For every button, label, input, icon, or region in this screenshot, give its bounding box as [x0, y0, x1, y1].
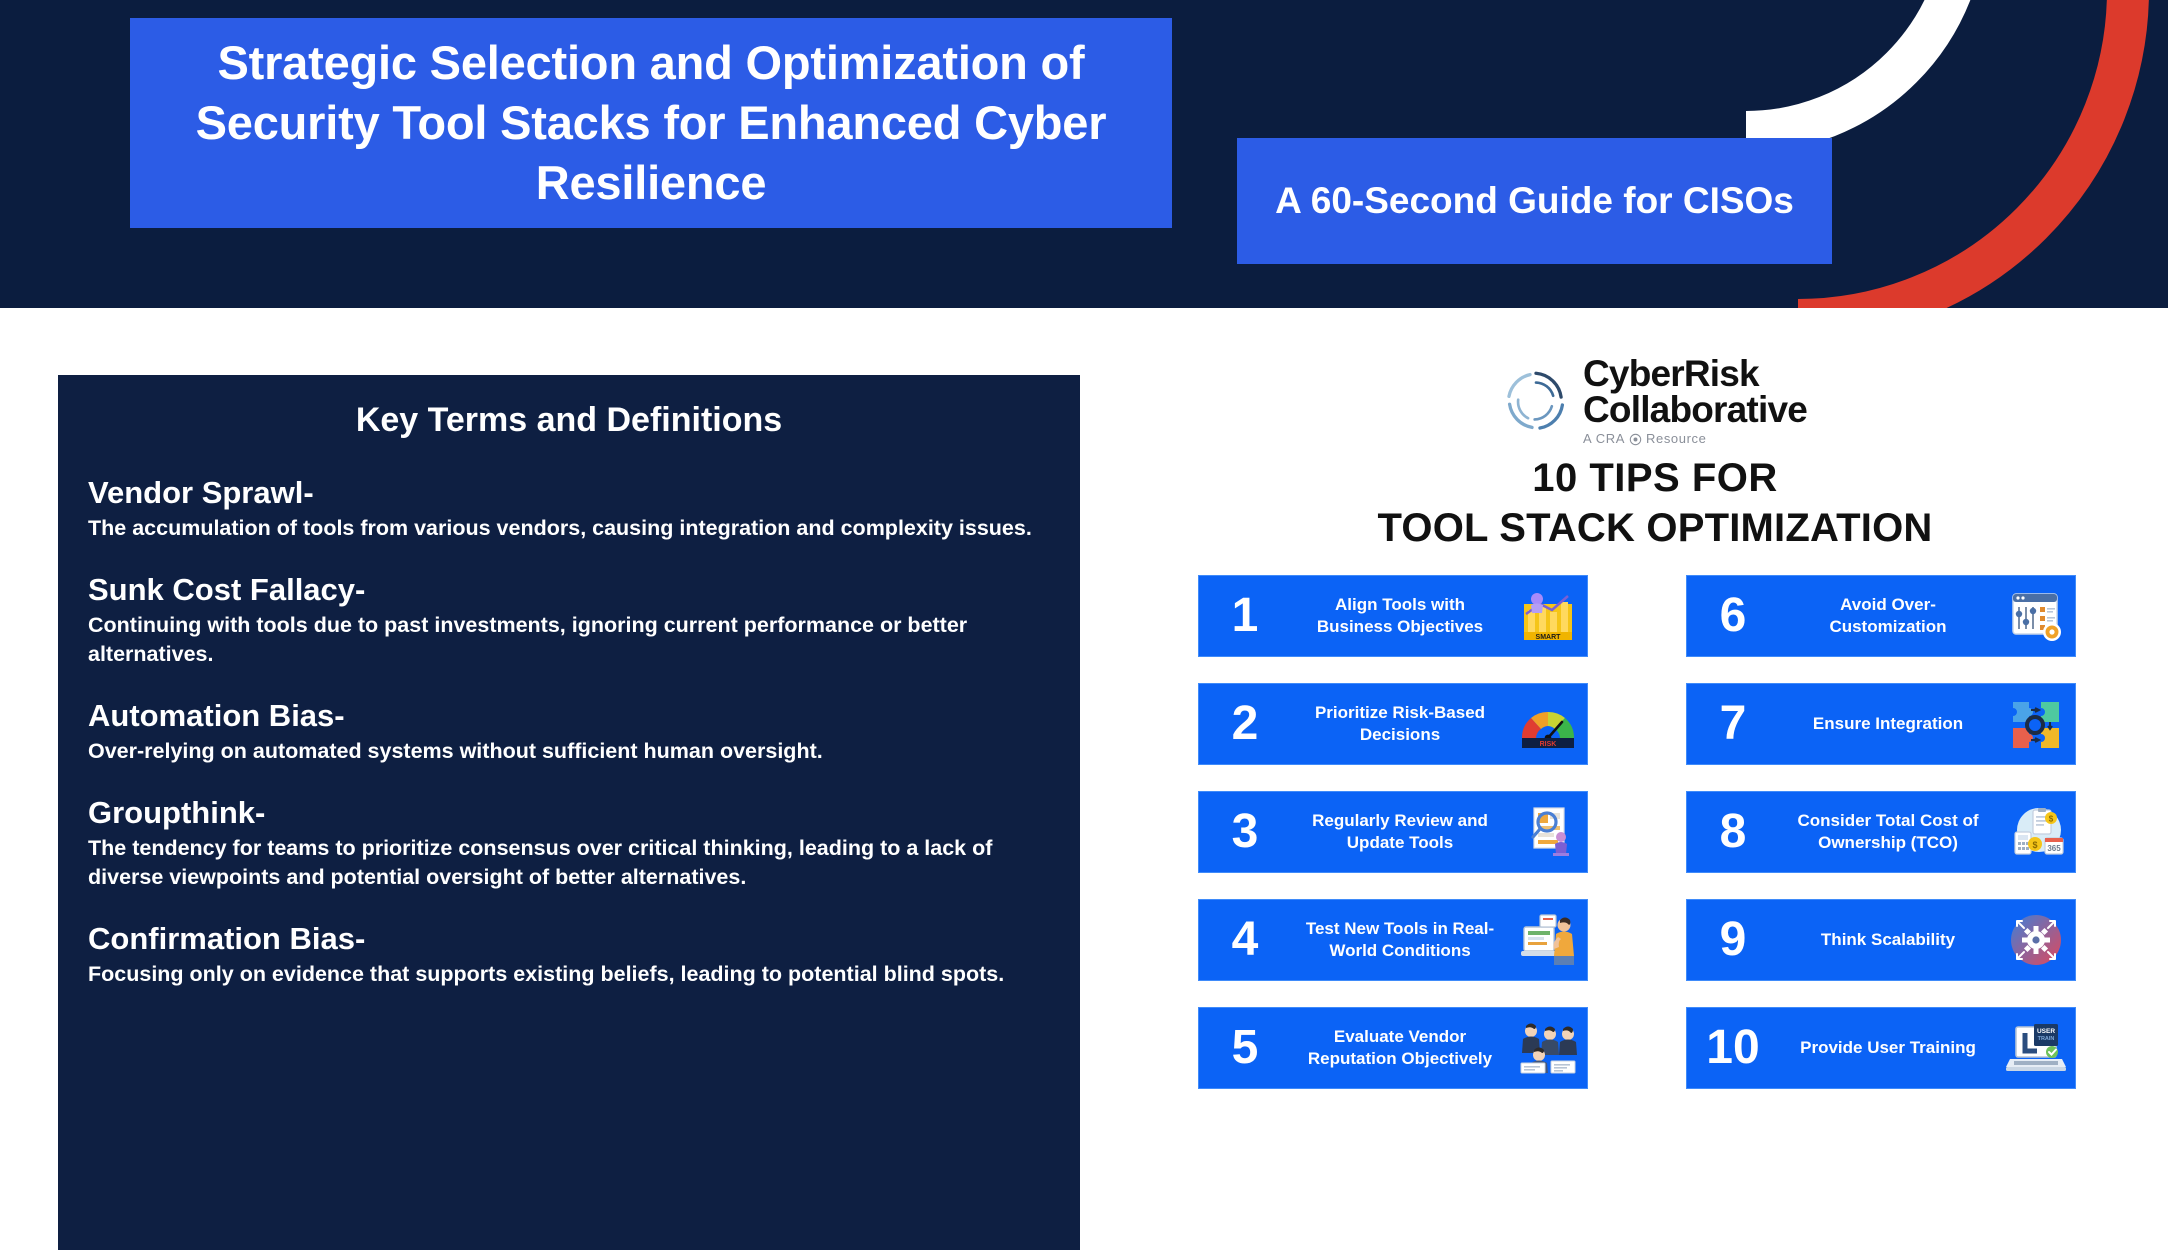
- tip-card[interactable]: 4 Test New Tools in Real-World Condition…: [1198, 899, 1588, 981]
- tip-number: 2: [1199, 700, 1291, 748]
- term-entry: Groupthink- The tendency for teams to pr…: [88, 796, 1050, 892]
- tip-card[interactable]: 10 Provide User Training USER TRAIN: [1686, 1007, 2076, 1089]
- tip-label: Consider Total Cost of Ownership (TCO): [1779, 810, 1997, 854]
- logo-line-2: Collaborative: [1583, 392, 1807, 428]
- svg-text:$: $: [2049, 815, 2054, 824]
- tip-number: 8: [1687, 808, 1779, 856]
- svg-text:RISK: RISK: [1540, 741, 1557, 748]
- tip-card[interactable]: 6 Avoid Over-Customization: [1686, 575, 2076, 657]
- cyberrisk-swirl-logo-icon: [1503, 368, 1569, 434]
- brand-logo: CyberRisk Collaborative A CRA Resource: [1180, 355, 2130, 447]
- term-name: Confirmation Bias-: [88, 922, 1050, 957]
- tip-label: Think Scalability: [1779, 929, 1997, 951]
- review-document-icon: [1509, 796, 1587, 868]
- tip-number: 3: [1199, 808, 1291, 856]
- tips-grid: 1 Align Tools with Business Objectives S…: [1180, 575, 2130, 1089]
- settings-sliders-icon: [1997, 580, 2075, 652]
- term-name: Sunk Cost Fallacy-: [88, 573, 1050, 608]
- tip-label: Regularly Review and Update Tools: [1291, 810, 1509, 854]
- term-entry: Automation Bias- Over-relying on automat…: [88, 699, 1050, 766]
- puzzle-pieces-icon: [1997, 688, 2075, 760]
- key-terms-heading: Key Terms and Definitions: [88, 401, 1050, 440]
- person-testing-laptop-icon: [1509, 904, 1587, 976]
- term-definition: Over-relying on automated systems withou…: [88, 737, 1050, 766]
- scalability-gear-arrows-icon: [1997, 904, 2075, 976]
- smart-goals-chart-icon: SMART: [1509, 580, 1587, 652]
- tip-card[interactable]: 9 Think Scalability: [1686, 899, 2076, 981]
- tip-label: Provide User Training: [1779, 1037, 1997, 1059]
- tip-label: Test New Tools in Real-World Conditions: [1291, 918, 1509, 962]
- tip-label: Ensure Integration: [1779, 713, 1997, 735]
- term-definition: The accumulation of tools from various v…: [88, 514, 1050, 543]
- svg-text:TRAIN: TRAIN: [2038, 1036, 2055, 1042]
- tips-section: CyberRisk Collaborative A CRA Resource 1…: [1180, 355, 2130, 1185]
- tip-number: 7: [1687, 700, 1779, 748]
- people-group-icon: [1509, 1012, 1587, 1084]
- tip-number: 1: [1199, 592, 1291, 640]
- term-entry: Sunk Cost Fallacy- Continuing with tools…: [88, 573, 1050, 669]
- tip-card[interactable]: 5 Evaluate Vendor Reputation Objectively: [1198, 1007, 1588, 1089]
- tagline-before: A CRA: [1583, 433, 1625, 446]
- subtitle-banner: A 60-Second Guide for CISOs: [1237, 138, 1832, 264]
- cra-globe-icon: [1629, 433, 1642, 446]
- logo-line-1: CyberRisk: [1583, 356, 1807, 392]
- tip-card[interactable]: 3 Regularly Review and Update Tools: [1198, 791, 1588, 873]
- term-name: Vendor Sprawl-: [88, 476, 1050, 511]
- key-terms-panel: Key Terms and Definitions Vendor Sprawl-…: [58, 375, 1080, 1250]
- svg-text:365: 365: [2047, 844, 2061, 853]
- tip-card[interactable]: 7 Ensure Integration: [1686, 683, 2076, 765]
- term-definition: The tendency for teams to prioritize con…: [88, 834, 1050, 892]
- tip-card[interactable]: 2 Prioritize Risk-Based Decisions RISK: [1198, 683, 1588, 765]
- tip-number: 9: [1687, 916, 1779, 964]
- svg-text:$: $: [2032, 840, 2037, 850]
- term-name: Automation Bias-: [88, 699, 1050, 734]
- tip-label: Prioritize Risk-Based Decisions: [1291, 702, 1509, 746]
- risk-gauge-icon: RISK: [1509, 688, 1587, 760]
- page-title: Strategic Selection and Optimization of …: [156, 33, 1146, 212]
- tips-heading: 10 TIPS FOR TOOL STACK OPTIMIZATION: [1180, 453, 2130, 553]
- logo-tagline: A CRA Resource: [1583, 433, 1807, 446]
- tip-number: 10: [1687, 1024, 1779, 1072]
- tip-label: Avoid Over-Customization: [1779, 594, 1997, 638]
- tip-number: 6: [1687, 592, 1779, 640]
- laptop-training-icon: USER TRAIN: [1997, 1012, 2075, 1084]
- svg-text:SMART: SMART: [1536, 634, 1562, 641]
- tagline-after: Resource: [1646, 433, 1706, 446]
- svg-text:USER: USER: [2037, 1028, 2055, 1035]
- tips-heading-line-1: 10 TIPS FOR: [1180, 453, 2130, 503]
- tip-card[interactable]: 8 Consider Total Cost of Ownership (TCO)…: [1686, 791, 2076, 873]
- page-subtitle: A 60-Second Guide for CISOs: [1275, 177, 1794, 224]
- cost-calculator-icon: $ $ 365: [1997, 796, 2075, 868]
- tips-heading-line-2: TOOL STACK OPTIMIZATION: [1180, 503, 2130, 553]
- header-band: Strategic Selection and Optimization of …: [0, 0, 2168, 308]
- term-name: Groupthink-: [88, 796, 1050, 831]
- tip-label: Align Tools with Business Objectives: [1291, 594, 1509, 638]
- term-definition: Continuing with tools due to past invest…: [88, 611, 1050, 669]
- tip-number: 5: [1199, 1024, 1291, 1072]
- tip-card[interactable]: 1 Align Tools with Business Objectives S…: [1198, 575, 1588, 657]
- term-entry: Confirmation Bias- Focusing only on evid…: [88, 922, 1050, 989]
- term-entry: Vendor Sprawl- The accumulation of tools…: [88, 476, 1050, 543]
- term-definition: Focusing only on evidence that supports …: [88, 960, 1050, 989]
- tip-label: Evaluate Vendor Reputation Objectively: [1291, 1026, 1509, 1070]
- tip-number: 4: [1199, 916, 1291, 964]
- main-title-banner: Strategic Selection and Optimization of …: [130, 18, 1172, 228]
